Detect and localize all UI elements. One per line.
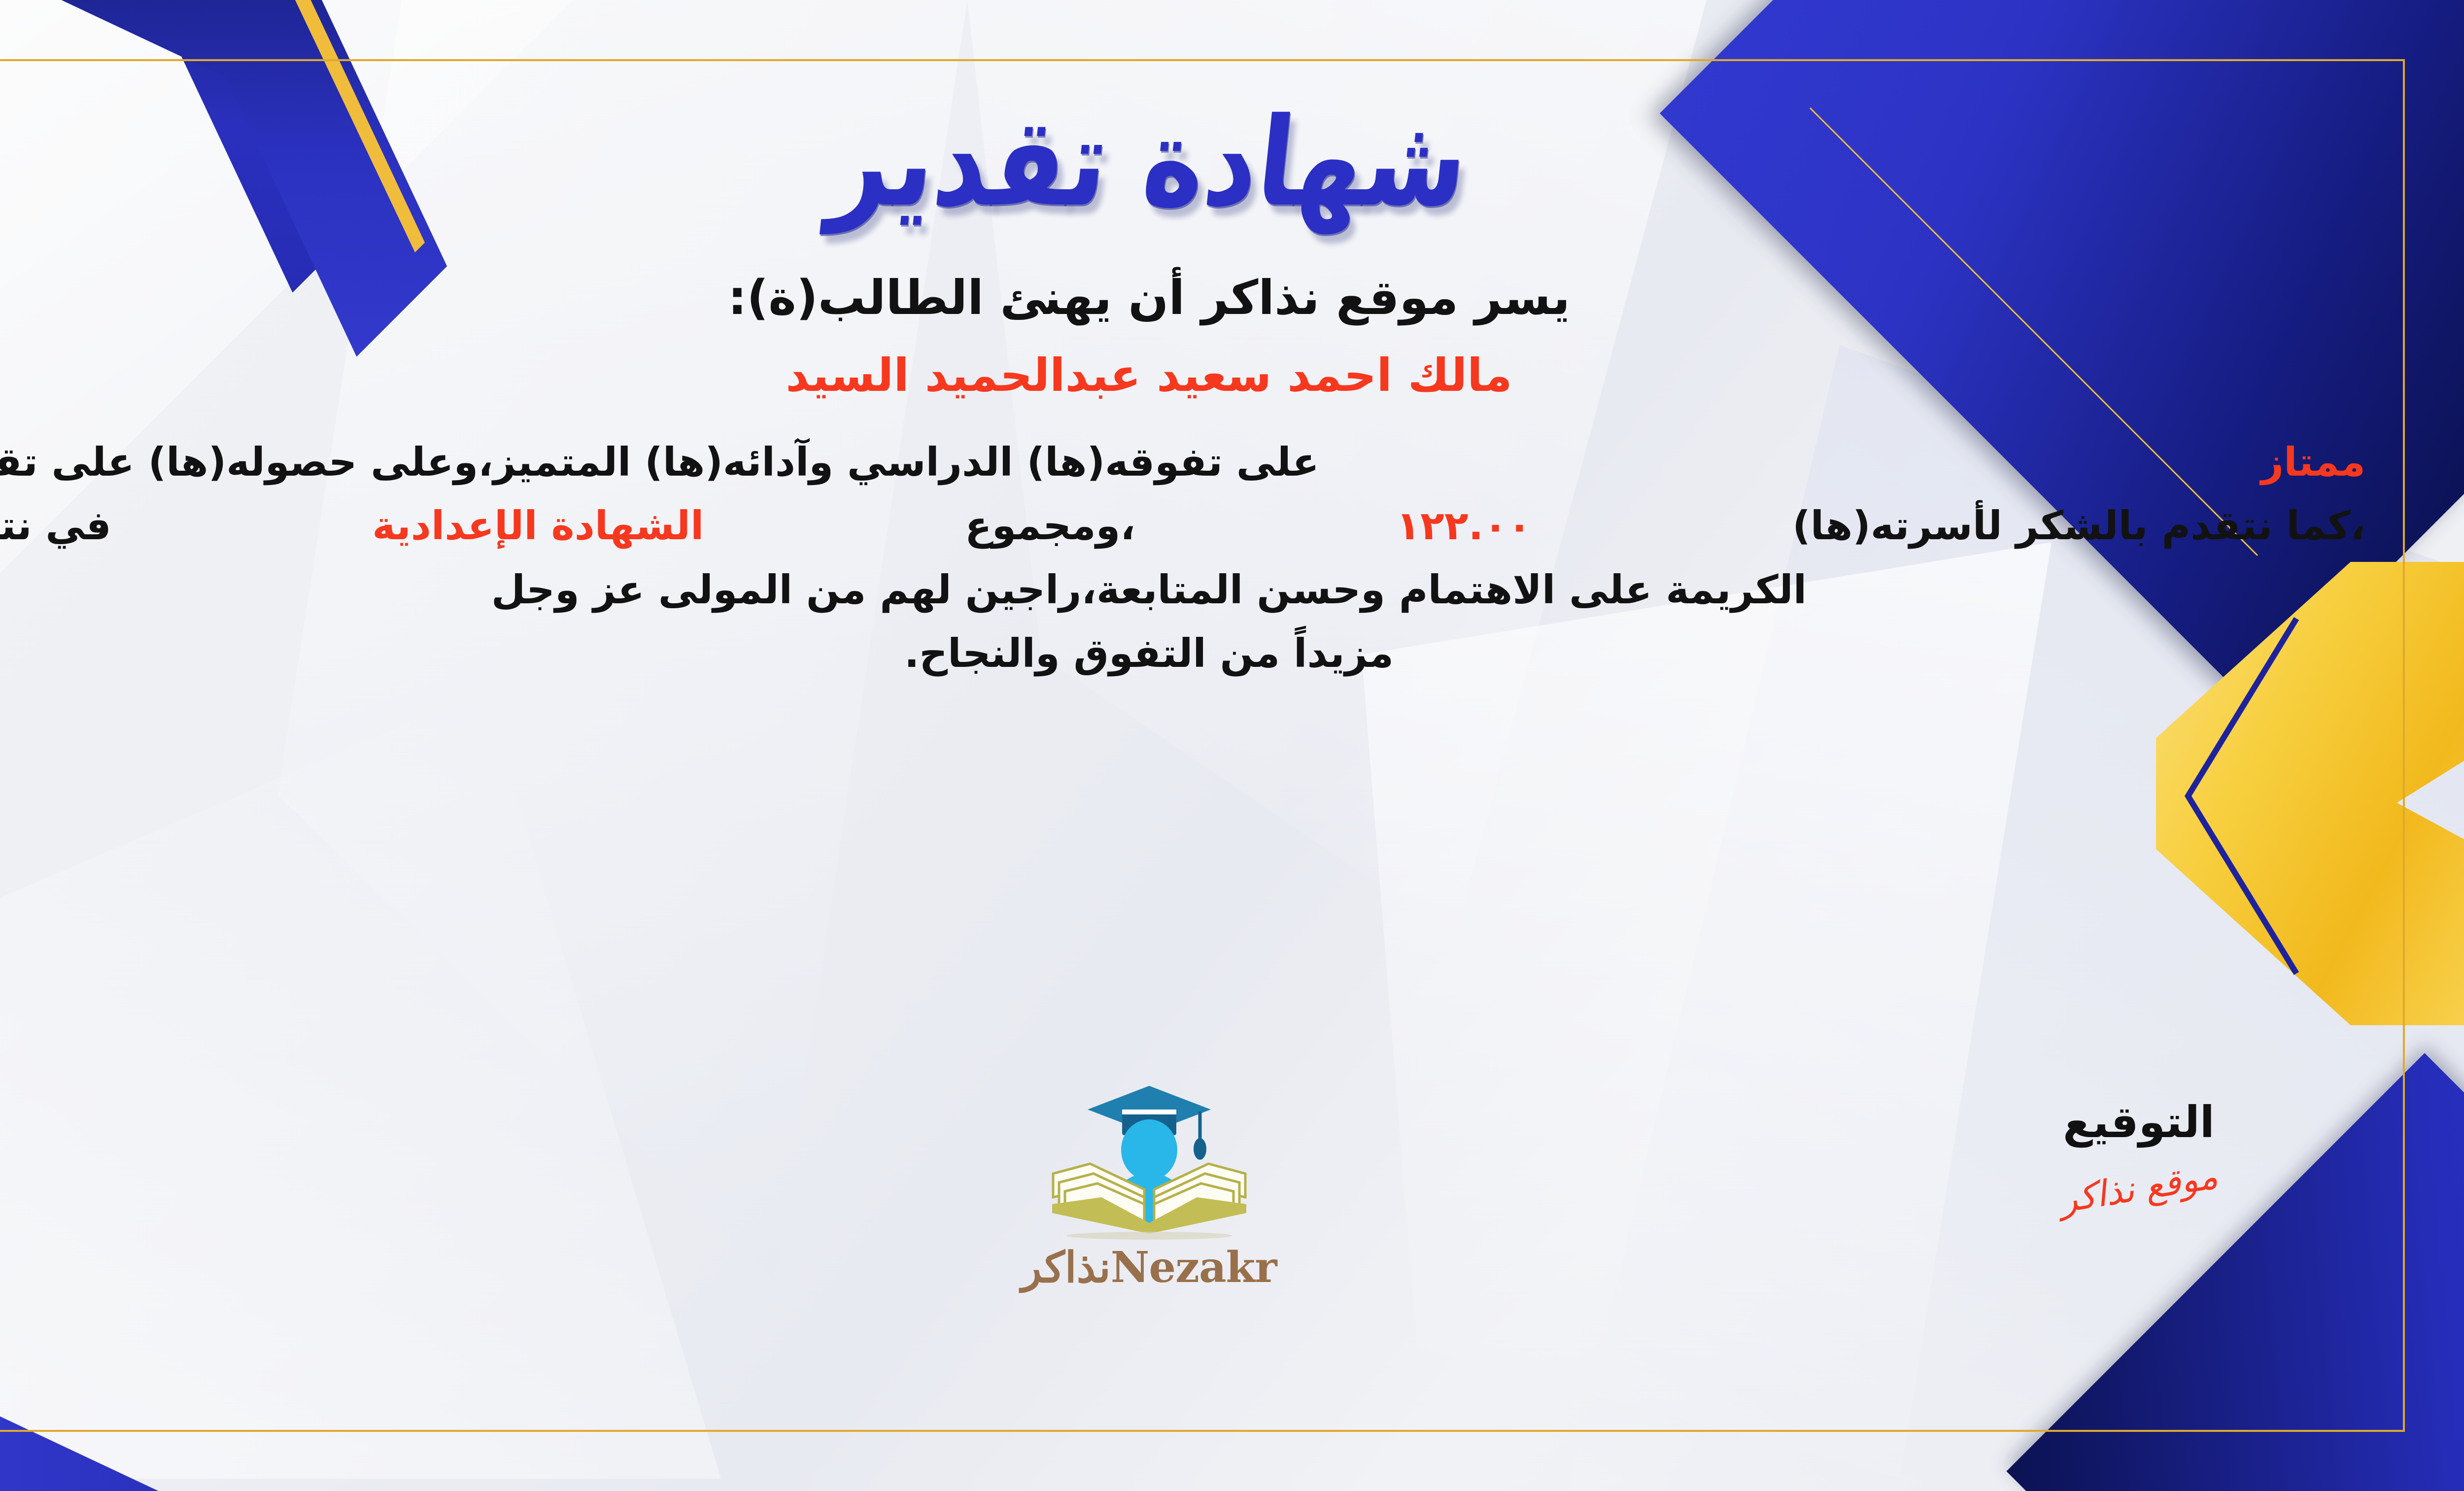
certificate-stage-name: الشهادة الإعدادية	[372, 494, 704, 558]
brand-logo: Nezakrنذاكر	[962, 1077, 1336, 1292]
body-line-2-mid: ،ومجموع	[965, 494, 1135, 558]
total-score-value: ١٢٢.٠٠	[1396, 494, 1532, 558]
body-line-3: الكريمة على الاهتمام وحسن المتابعة،راجين…	[0, 558, 2385, 622]
body-line-2-head: في نتيجة	[0, 494, 111, 558]
certificate-body: يسر موقع نذاكر أن يهنئ الطالب(ة): مالك ا…	[0, 266, 2385, 686]
body-line-4: مزيداً من التفوق والنجاح.	[0, 622, 2385, 686]
brand-name-arabic: نذاكر	[1021, 1243, 1110, 1292]
certificate-footer: التوقيع موقع نذاكر	[0, 1077, 2385, 1383]
body-line-1-text: على تفوقه(ها) الدراسي وآدائه(ها) المتميز…	[0, 430, 1319, 494]
body-paragraph: ممتاز على تفوقه(ها) الدراسي وآدائه(ها) ا…	[0, 430, 2385, 686]
certificate-content: شهادة تقدير يسر موقع نذاكر أن يهنئ الطال…	[0, 74, 2385, 1417]
certificate-canvas: شهادة تقدير يسر موقع نذاكر أن يهنئ الطال…	[0, 0, 2464, 1491]
body-line-3-text: الكريمة على الاهتمام وحسن المتابعة،راجين…	[491, 558, 1807, 622]
title-container: شهادة تقدير	[831, 99, 1467, 227]
student-name: مالك احمد سعيد عبدالحميد السيد	[0, 349, 2385, 402]
body-line-2: ،كما نتقدم بالشكر لأسرته(ها) ١٢٢.٠٠ ،ومج…	[0, 494, 2385, 558]
signature-label: التوقيع	[2001, 1097, 2277, 1147]
graduate-book-icon	[1043, 1077, 1255, 1240]
body-line-2-tail: ،كما نتقدم بالشكر لأسرته(ها)	[1792, 494, 2365, 558]
greeting-line: يسر موقع نذاكر أن يهنئ الطالب(ة):	[0, 266, 2385, 330]
grade-value: ممتاز	[2261, 430, 2365, 494]
body-line-4-text: مزيداً من التفوق والنجاح.	[904, 622, 1394, 686]
brand-name-latin: Nezakr	[1111, 1243, 1277, 1292]
signature-block: التوقيع موقع نذاكر	[2001, 1097, 2277, 1209]
body-line-1: ممتاز على تفوقه(ها) الدراسي وآدائه(ها) ا…	[0, 430, 2385, 494]
brand-name: Nezakrنذاكر	[962, 1243, 1336, 1292]
certificate-title: شهادة تقدير	[825, 102, 1473, 224]
signature-mark: موقع نذاكر	[2057, 1155, 2221, 1221]
